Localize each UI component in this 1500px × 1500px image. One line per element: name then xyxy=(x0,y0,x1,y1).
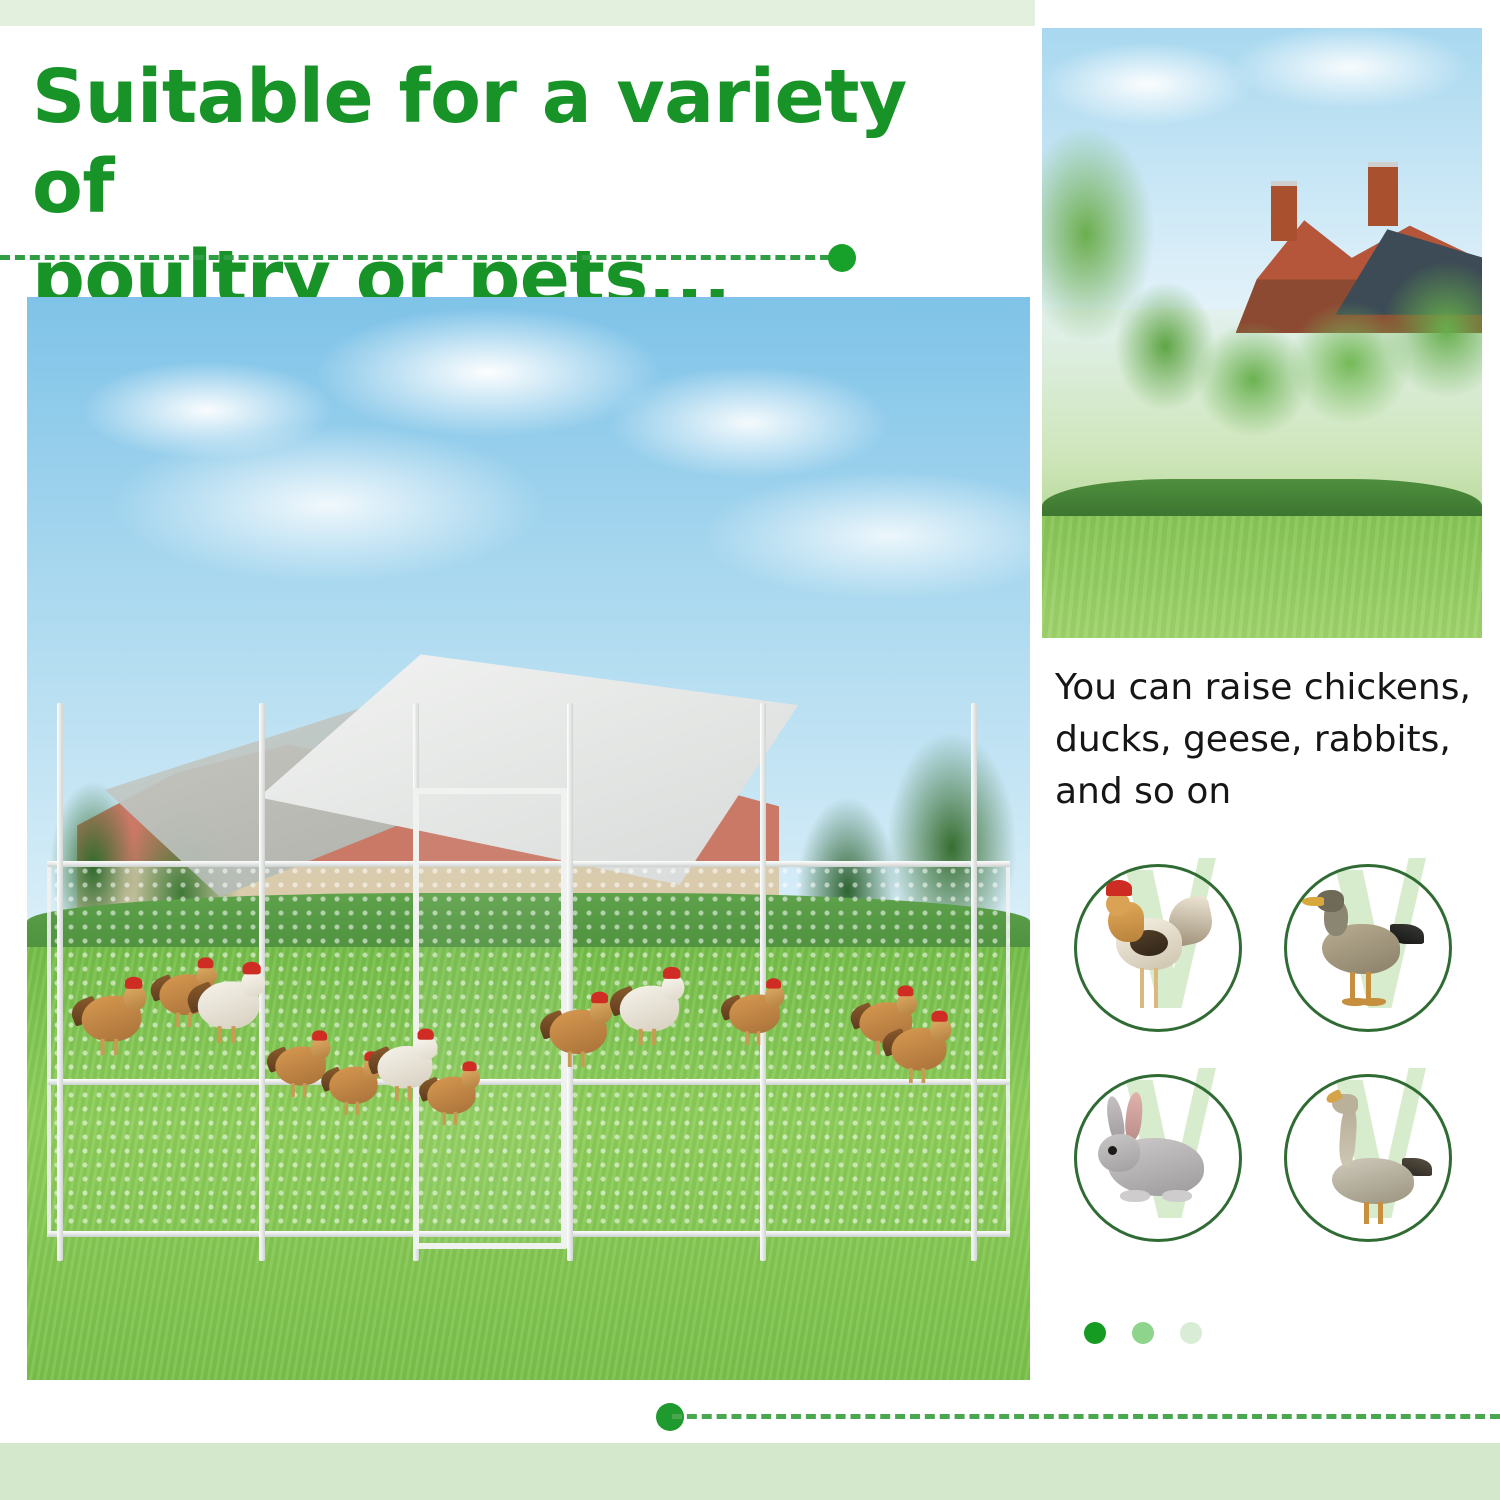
pagination-dot-2[interactable] xyxy=(1132,1322,1154,1344)
animal-badge-duck xyxy=(1272,852,1482,1062)
side-lawn xyxy=(1042,516,1482,638)
animal-badge-rooster xyxy=(1062,852,1272,1062)
page-title: Suitable for a variety of poultry or pet… xyxy=(32,52,992,323)
duck-icon xyxy=(1302,880,1437,1018)
chicken xyxy=(425,1061,482,1125)
side-treeline xyxy=(1042,89,1482,504)
chicken xyxy=(79,977,149,1055)
divider-bottom-dashed-line xyxy=(672,1414,1500,1419)
coop-post xyxy=(567,703,573,1261)
chicken xyxy=(889,1011,954,1084)
bottom-accent-band xyxy=(0,1443,1500,1500)
chicken xyxy=(727,978,787,1045)
pagination-dots[interactable] xyxy=(1084,1322,1202,1344)
chicken xyxy=(617,967,687,1045)
goose-icon xyxy=(1302,1090,1437,1228)
caption-text: You can raise chickens, ducks, geese, ra… xyxy=(1055,662,1485,819)
animal-badge-goose xyxy=(1272,1062,1482,1272)
chicken xyxy=(547,992,615,1067)
chicken xyxy=(195,962,268,1043)
coop-post xyxy=(971,703,977,1261)
rabbit-icon xyxy=(1092,1090,1227,1228)
rooster-icon xyxy=(1092,880,1227,1018)
marketing-page: Suitable for a variety of poultry or pet… xyxy=(0,0,1500,1500)
divider-top-end-dot xyxy=(828,244,856,272)
hero-product-photo xyxy=(27,297,1030,1380)
lawn-scene-photo xyxy=(1042,28,1482,638)
animal-badge-rabbit xyxy=(1062,1062,1272,1272)
top-accent-band xyxy=(0,0,1035,26)
pagination-dot-1[interactable] xyxy=(1084,1322,1106,1344)
coop-post xyxy=(57,703,63,1261)
pagination-dot-3[interactable] xyxy=(1180,1322,1202,1344)
animal-badge-grid xyxy=(1062,852,1482,1272)
divider-top-dashed-line xyxy=(0,255,845,260)
